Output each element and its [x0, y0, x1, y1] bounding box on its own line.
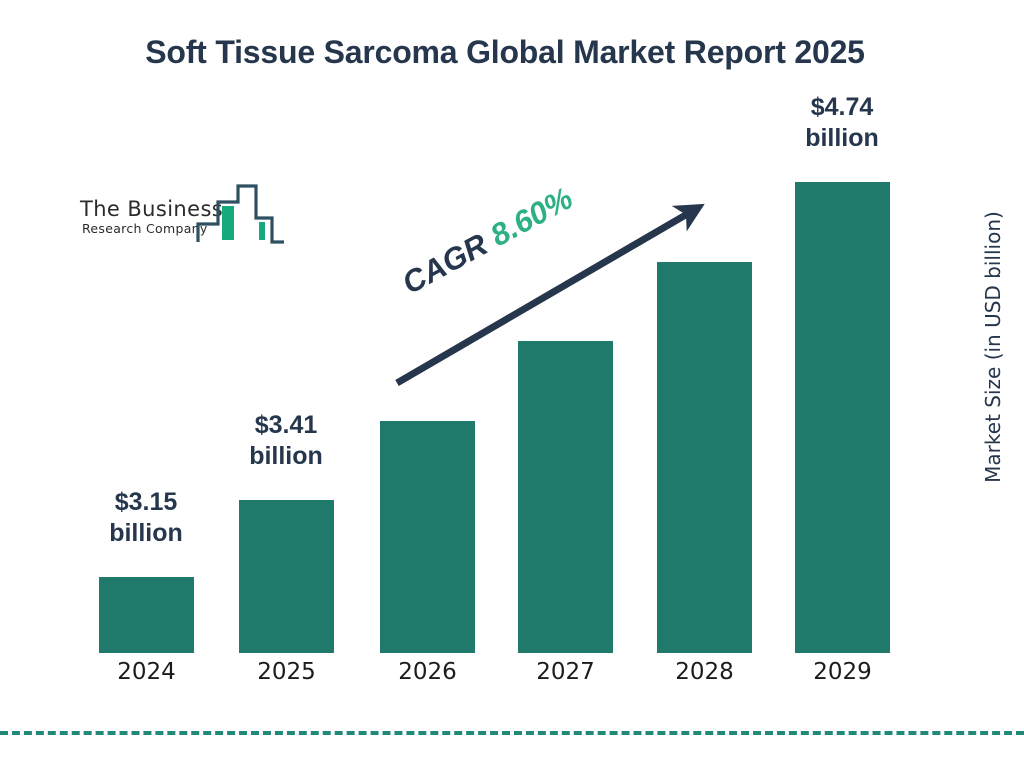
- x-tick-2027: 2027: [515, 659, 616, 685]
- x-tick-2024: 2024: [96, 659, 197, 685]
- bar-value-2024: $3.15 billion: [76, 487, 216, 548]
- bar-value-2025: $3.41 billion: [216, 410, 356, 471]
- bar-2029: [795, 182, 890, 653]
- x-tick-2026: 2026: [377, 659, 478, 685]
- bar-2024: [99, 577, 194, 653]
- bar-2026: [380, 421, 475, 653]
- bar-value-2029: $4.74 billion: [772, 92, 912, 153]
- chart-canvas: Soft Tissue Sarcoma Global Market Report…: [0, 0, 1024, 768]
- x-tick-2029: 2029: [792, 659, 893, 685]
- y-axis-title: Market Size (in USD billion): [981, 197, 1005, 497]
- bar-2025: [239, 500, 334, 653]
- bar-2028: [657, 262, 752, 653]
- bar-2027: [518, 341, 613, 653]
- plot-area: $3.15 billion $3.41 billion $4.74 billio…: [0, 0, 1024, 768]
- footer-divider: [0, 731, 1024, 735]
- x-tick-2025: 2025: [236, 659, 337, 685]
- x-tick-2028: 2028: [654, 659, 755, 685]
